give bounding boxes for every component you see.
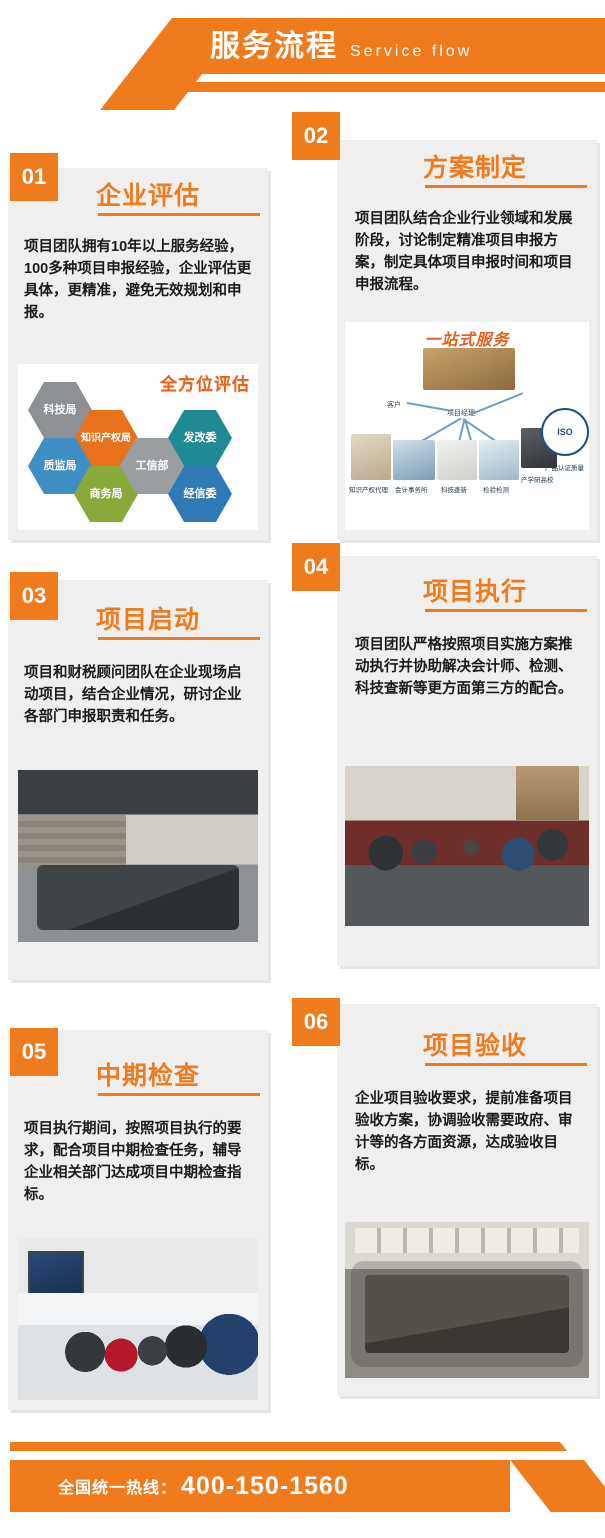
infographic-page: 服务流程 Service flow 01 企业评估 项目团队拥有10年以上服务经… xyxy=(0,0,605,1538)
page-subtitle: Service flow xyxy=(350,43,472,61)
one-stop-arrow-6 xyxy=(469,392,523,415)
step-body-03: 项目和财税顾问团队在企业现场启动项目，结合企业情况，研讨企业各部门申报职责和任务… xyxy=(24,662,252,728)
photo-site-inspection xyxy=(18,1238,258,1400)
one-stop-service-diagram: 一站式服务 客户 项目经理 ISO 知识产权代理 会计事务所 科技查新 xyxy=(345,322,589,530)
one-stop-label-accounting: 会计事务所 xyxy=(395,484,428,494)
step-card-04[interactable]: 04 项目执行 项目团队严格按照项目实施方案推动执行并协助解决会计师、检测、科技… xyxy=(337,556,597,966)
step-number-badge-01: 01 xyxy=(10,153,58,201)
step-body-06: 企业项目验收要求，提前准备项目验收方案，协调验收需要政府、审计等的各方面资源，达… xyxy=(355,1088,581,1176)
step-title-rule-01 xyxy=(98,213,260,216)
step-title-rule-06 xyxy=(425,1063,587,1066)
header-accent-stripe xyxy=(160,82,605,92)
photo-kickoff-meeting xyxy=(18,770,258,942)
step-body-04: 项目团队严格按照项目实施方案推动执行并协助解决会计师、检测、科技查新等更方面第三… xyxy=(355,634,581,700)
step-body-01: 项目团队拥有10年以上服务经验，100多种项目申报经验，企业评估更具体，更精准，… xyxy=(24,236,252,324)
one-stop-node-customer: 客户 xyxy=(387,400,401,410)
step-body-05: 项目执行期间，按照项目执行的要求，配合项目中期检查任务，辅导企业相关部门达成项目… xyxy=(24,1118,252,1206)
photo-acceptance-meeting xyxy=(345,1222,589,1378)
one-stop-title: 一站式服务 xyxy=(424,326,509,350)
step-number-badge-03: 03 xyxy=(10,572,58,620)
one-stop-label-ip: 知识产权代理 xyxy=(349,484,388,494)
one-stop-label-research: 科技查新 xyxy=(441,484,467,494)
one-stop-label-university: 产学研高校 xyxy=(521,474,554,484)
hotline-label: 全国统一热线： xyxy=(58,1474,177,1498)
photo-working-session xyxy=(345,766,589,926)
step-title-rule-05 xyxy=(98,1093,260,1096)
step-number-badge-05: 05 xyxy=(10,1028,58,1076)
step-number-badge-02: 02 xyxy=(292,112,340,160)
step-card-06[interactable]: 06 项目验收 企业项目验收要求，提前准备项目验收方案，协调验收需要政府、审计等… xyxy=(337,1004,597,1396)
iso-seal-icon: ISO xyxy=(541,408,589,456)
page-header: 服务流程 Service flow xyxy=(0,0,605,110)
one-stop-center-photo xyxy=(423,348,515,390)
step-card-01[interactable]: 01 企业评估 项目团队拥有10年以上服务经验，100多种项目申报经验，企业评估… xyxy=(8,168,268,540)
step-card-02[interactable]: 02 方案制定 项目团队结合企业行业领域和发展阶段，讨论制定精准项目申报方案，制… xyxy=(337,140,597,540)
one-stop-tile-testing xyxy=(479,440,519,480)
step-title-rule-02 xyxy=(425,185,587,188)
step-title-04: 项目执行 xyxy=(423,572,527,608)
step-card-05[interactable]: 05 中期检查 项目执行期间，按照项目执行的要求，配合项目中期检查任务，辅导企业… xyxy=(8,1030,268,1410)
one-stop-tile-ip xyxy=(351,434,391,480)
step-body-02: 项目团队结合企业行业领域和发展阶段，讨论制定精准项目申报方案，制定具体项目申报时… xyxy=(355,208,581,296)
header-title-group: 服务流程 Service flow xyxy=(210,24,472,70)
evaluation-chart-title: 全方位评估 xyxy=(160,370,250,395)
one-stop-tile-accounting xyxy=(393,440,435,480)
step-title-rule-04 xyxy=(425,609,587,612)
step-card-03[interactable]: 03 项目启动 项目和财税顾问团队在企业现场启动项目，结合企业情况，研讨企业各部… xyxy=(8,580,268,980)
step-number-badge-04: 04 xyxy=(292,543,340,591)
step-title-05: 中期检查 xyxy=(96,1056,200,1092)
step-number-badge-06: 06 xyxy=(292,998,340,1046)
step-title-01: 企业评估 xyxy=(96,176,200,212)
hotline-group: 全国统一热线： 400-150-1560 xyxy=(58,1460,349,1512)
page-title: 服务流程 xyxy=(210,24,338,70)
one-stop-label-testing: 检验检测 xyxy=(483,484,509,494)
step-title-rule-03 xyxy=(98,637,260,640)
step-title-03: 项目启动 xyxy=(96,600,200,636)
one-stop-tile-research xyxy=(437,440,477,480)
page-footer: 全国统一热线： 400-150-1560 xyxy=(0,1408,605,1538)
step-title-06: 项目验收 xyxy=(423,1026,527,1062)
one-stop-label-certification: 产品认证质量 xyxy=(545,462,584,472)
evaluation-chart: 全方位评估 科技局 知识产权局 质监局 商务局 工信部 发改委 经信委 xyxy=(18,364,258,530)
one-stop-arrow-1 xyxy=(407,402,451,411)
step-title-02: 方案制定 xyxy=(423,148,527,184)
footer-stripe-bevel xyxy=(524,1442,567,1451)
footer-accent-stripe xyxy=(10,1442,534,1451)
footer-banner-bevel xyxy=(510,1460,605,1512)
hotline-number[interactable]: 400-150-1560 xyxy=(181,1472,349,1501)
